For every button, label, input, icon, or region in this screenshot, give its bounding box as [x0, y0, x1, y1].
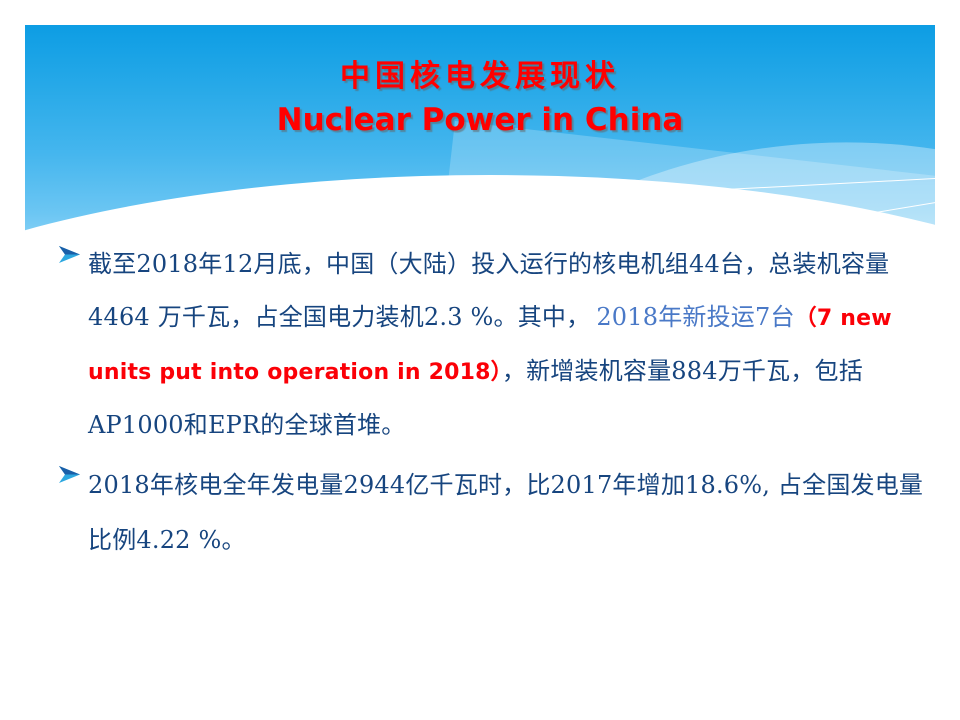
arrow-bullet-icon	[58, 238, 88, 265]
bullet-paragraph: 截至2018年12月底，中国（大陆）投入运行的核电机组44台，总装机容量4464…	[88, 238, 938, 452]
slide-title: 中国核电发展现状 Nuclear Power in China	[0, 58, 960, 140]
bullet-1-segment-blue: 2018年新投运7台	[596, 303, 794, 331]
slide-body: 截至2018年12月底，中国（大陆）投入运行的核电机组44台，总装机容量4464…	[58, 238, 938, 574]
slide-title-english: Nuclear Power in China	[0, 100, 960, 140]
bullet-paragraph: 2018年核电全年发电量2944亿千瓦时，比2017年增加18.6%, 占全国发…	[88, 458, 938, 568]
bullet-item: 截至2018年12月底，中国（大陆）投入运行的核电机组44台，总装机容量4464…	[58, 238, 938, 452]
presentation-slide: 中国核电发展现状 Nuclear Power in China 截至2018年1…	[0, 0, 960, 720]
bullet-2-segment-navy: 2018年核电全年发电量2944亿千瓦时，比2017年增加18.6%, 占全国发…	[88, 471, 923, 554]
bullet-item: 2018年核电全年发电量2944亿千瓦时，比2017年增加18.6%, 占全国发…	[58, 458, 938, 568]
arrow-bullet-icon	[58, 458, 88, 485]
slide-title-chinese: 中国核电发展现状	[0, 58, 960, 96]
